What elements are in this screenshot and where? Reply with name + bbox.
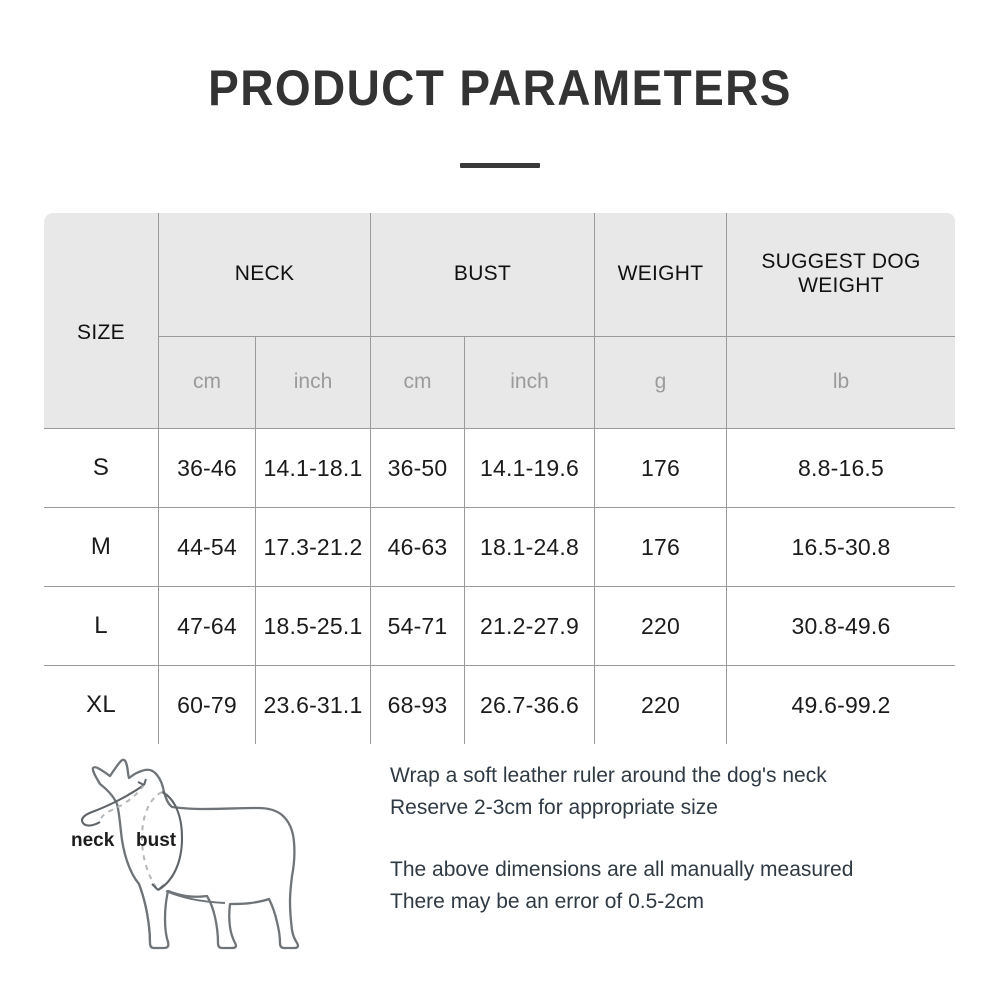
suggest-dog-weight-line1: SUGGEST DOG (761, 250, 920, 273)
note-group-tolerance: The above dimensions are all manually me… (390, 854, 950, 918)
column-header-bust: BUST (371, 213, 595, 337)
table-row: L 47-64 18.5-25.1 54-71 21.2-27.9 220 30… (44, 587, 956, 666)
cell-neck-inch: 18.5-25.1 (256, 587, 371, 666)
cell-bust-cm: 54-71 (371, 587, 465, 666)
cell-bust-cm: 46-63 (371, 508, 465, 587)
cell-suggest-lb: 30.8-49.6 (727, 587, 956, 666)
suggest-dog-weight-line2: WEIGHT (798, 274, 884, 297)
unit-header-weight-g: g (595, 336, 727, 428)
unit-header-bust-inch: inch (465, 336, 595, 428)
note-line: The above dimensions are all manually me… (390, 854, 950, 886)
cell-suggest-lb: 8.8-16.5 (727, 429, 956, 508)
cell-bust-cm: 36-50 (371, 429, 465, 508)
title-block: PRODUCT PARAMETERS (0, 0, 1000, 168)
table-row: M 44-54 17.3-21.2 46-63 18.1-24.8 176 16… (44, 508, 956, 587)
cell-neck-cm: 36-46 (159, 429, 256, 508)
dog-outline-icon (62, 752, 372, 967)
column-header-weight: WEIGHT (595, 213, 727, 337)
dog-measurement-diagram (62, 752, 372, 967)
title-divider (460, 163, 540, 168)
cell-bust-inch: 26.7-36.6 (465, 666, 595, 745)
note-line: Reserve 2-3cm for appropriate size (390, 792, 950, 824)
unit-header-neck-inch: inch (256, 336, 371, 428)
unit-header-neck-cm: cm (159, 336, 256, 428)
cell-weight-g: 220 (595, 587, 727, 666)
diagram-label-neck: neck (71, 830, 114, 852)
cell-neck-inch: 14.1-18.1 (256, 429, 371, 508)
note-line: Wrap a soft leather ruler around the dog… (390, 760, 950, 792)
product-parameters-table: SIZE NECK BUST WEIGHT SUGGEST DOG WEIGHT… (43, 212, 956, 745)
table-header: SIZE NECK BUST WEIGHT SUGGEST DOG WEIGHT… (44, 213, 956, 429)
column-header-size: SIZE (44, 213, 159, 429)
column-header-neck: NECK (159, 213, 371, 337)
cell-weight-g: 176 (595, 429, 727, 508)
cell-bust-inch: 14.1-19.6 (465, 429, 595, 508)
cell-bust-cm: 68-93 (371, 666, 465, 745)
diagram-label-bust: bust (136, 830, 176, 852)
cell-neck-cm: 44-54 (159, 508, 256, 587)
table-header-row-units: cm inch cm inch g lb (44, 336, 956, 428)
cell-size: L (44, 587, 159, 666)
page-title: PRODUCT PARAMETERS (40, 62, 960, 115)
table-header-row-groups: SIZE NECK BUST WEIGHT SUGGEST DOG WEIGHT (44, 213, 956, 337)
column-header-suggest-dog-weight: SUGGEST DOG WEIGHT (727, 213, 956, 337)
cell-neck-inch: 17.3-21.2 (256, 508, 371, 587)
cell-bust-inch: 21.2-27.9 (465, 587, 595, 666)
note-group-measuring: Wrap a soft leather ruler around the dog… (390, 760, 950, 824)
measurement-notes: Wrap a soft leather ruler around the dog… (390, 760, 950, 948)
cell-size: S (44, 429, 159, 508)
unit-header-bust-cm: cm (371, 336, 465, 428)
measurement-guide-section: neck bust Wrap a soft leather ruler arou… (0, 742, 1000, 982)
cell-size: M (44, 508, 159, 587)
table-row: XL 60-79 23.6-31.1 68-93 26.7-36.6 220 4… (44, 666, 956, 745)
cell-suggest-lb: 49.6-99.2 (727, 666, 956, 745)
table-body: S 36-46 14.1-18.1 36-50 14.1-19.6 176 8.… (44, 429, 956, 745)
cell-suggest-lb: 16.5-30.8 (727, 508, 956, 587)
cell-size: XL (44, 666, 159, 745)
cell-neck-cm: 60-79 (159, 666, 256, 745)
cell-neck-cm: 47-64 (159, 587, 256, 666)
cell-bust-inch: 18.1-24.8 (465, 508, 595, 587)
table-row: S 36-46 14.1-18.1 36-50 14.1-19.6 176 8.… (44, 429, 956, 508)
unit-header-suggest-lb: lb (727, 336, 956, 428)
spec-table-wrapper: SIZE NECK BUST WEIGHT SUGGEST DOG WEIGHT… (43, 212, 955, 745)
cell-neck-inch: 23.6-31.1 (256, 666, 371, 745)
note-line: There may be an error of 0.5-2cm (390, 886, 950, 918)
cell-weight-g: 220 (595, 666, 727, 745)
cell-weight-g: 176 (595, 508, 727, 587)
